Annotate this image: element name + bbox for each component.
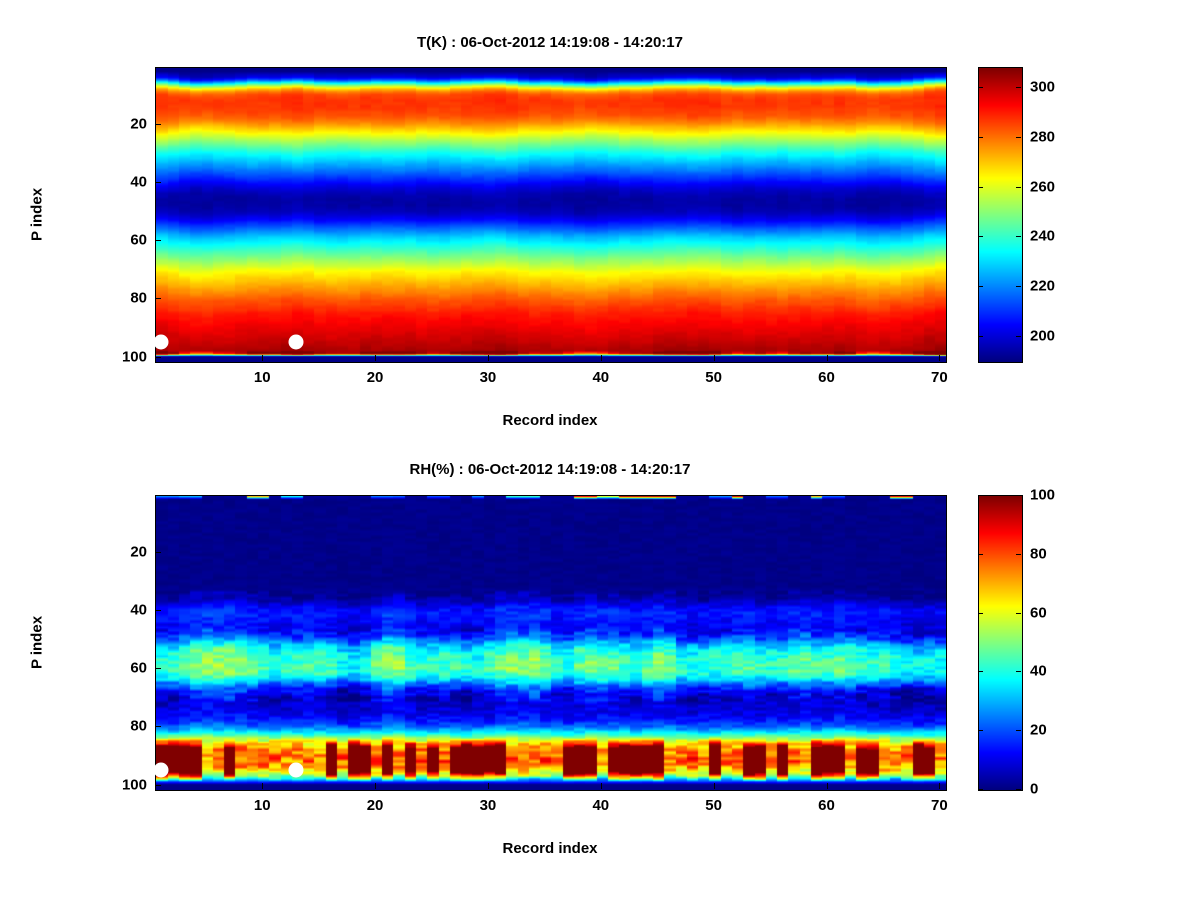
temperature-colorbar-tick-mark: [1016, 286, 1021, 287]
humidity-colorbar-tick-mark: [1016, 495, 1021, 496]
temperature-colorbar-tick-label: 260: [1030, 178, 1055, 195]
temperature-selection-marker[interactable]: [289, 335, 304, 350]
temperature-y-axis-label: P index: [29, 155, 46, 275]
temperature-colorbar-tick-mark: [978, 187, 983, 188]
temperature-heatmap-image: [156, 68, 946, 362]
humidity-heatmap-axes[interactable]: [155, 495, 947, 791]
temperature-x-axis-label: Record index: [155, 412, 945, 429]
temperature-x-tick-mark: [939, 355, 940, 361]
panel-relative-humidity: RH(%) : 06-Oct-2012 14:19:08 - 14:20:17 …: [0, 450, 1200, 900]
humidity-y-tick-label: 100: [89, 776, 147, 793]
humidity-y-tick-mark: [155, 726, 161, 727]
humidity-colorbar-tick-label: 20: [1030, 722, 1047, 739]
temperature-x-tick-label: 20: [367, 369, 384, 386]
humidity-x-axis-label: Record index: [155, 840, 945, 857]
temperature-x-tick-mark: [375, 355, 376, 361]
humidity-selection-marker[interactable]: [153, 763, 168, 778]
humidity-colorbar-tick-mark: [1016, 554, 1021, 555]
temperature-colorbar-tick-mark: [978, 286, 983, 287]
temperature-plot-title: T(K) : 06-Oct-2012 14:19:08 - 14:20:17: [155, 34, 945, 51]
humidity-colorbar-tick-label: 40: [1030, 663, 1047, 680]
humidity-colorbar-tick-mark: [1016, 730, 1021, 731]
humidity-x-tick-mark: [827, 783, 828, 789]
temperature-colorbar-tick-mark: [978, 137, 983, 138]
humidity-x-tick-label: 30: [480, 797, 497, 814]
humidity-colorbar-tick-label: 80: [1030, 545, 1047, 562]
temperature-y-tick-mark: [155, 298, 161, 299]
temperature-colorbar-tick-label: 300: [1030, 78, 1055, 95]
panel-temperature: T(K) : 06-Oct-2012 14:19:08 - 14:20:17 P…: [0, 0, 1200, 450]
temperature-colorbar-tick-mark: [978, 87, 983, 88]
humidity-x-tick-mark: [939, 783, 940, 789]
humidity-colorbar-tick-mark: [978, 730, 983, 731]
temperature-y-tick-label: 100: [89, 348, 147, 365]
temperature-colorbar-tick-mark: [1016, 187, 1021, 188]
temperature-colorbar-gradient: [979, 68, 1022, 362]
temperature-x-tick-label: 60: [818, 369, 835, 386]
humidity-y-tick-mark: [155, 785, 161, 786]
temperature-x-tick-mark: [262, 355, 263, 361]
humidity-colorbar[interactable]: [978, 495, 1023, 791]
humidity-x-tick-label: 60: [818, 797, 835, 814]
humidity-x-tick-label: 50: [705, 797, 722, 814]
humidity-plot-title: RH(%) : 06-Oct-2012 14:19:08 - 14:20:17: [155, 461, 945, 478]
temperature-heatmap-axes[interactable]: [155, 67, 947, 363]
temperature-y-tick-label: 60: [89, 232, 147, 249]
humidity-y-axis-label: P index: [29, 583, 46, 703]
temperature-x-tick-label: 70: [931, 369, 948, 386]
humidity-colorbar-tick-mark: [1016, 613, 1021, 614]
temperature-y-tick-mark: [155, 240, 161, 241]
humidity-colorbar-tick-mark: [1016, 789, 1021, 790]
temperature-colorbar-tick-mark: [1016, 87, 1021, 88]
temperature-y-tick-label: 40: [89, 173, 147, 190]
humidity-y-tick-label: 80: [89, 718, 147, 735]
humidity-x-tick-label: 20: [367, 797, 384, 814]
humidity-colorbar-tick-label: 60: [1030, 604, 1047, 621]
temperature-x-tick-label: 40: [592, 369, 609, 386]
humidity-colorbar-tick-mark: [978, 554, 983, 555]
temperature-x-tick-label: 30: [480, 369, 497, 386]
temperature-colorbar-tick-mark: [1016, 336, 1021, 337]
temperature-colorbar-tick-mark: [978, 236, 983, 237]
humidity-y-tick-label: 20: [89, 543, 147, 560]
temperature-colorbar-tick-label: 240: [1030, 228, 1055, 245]
humidity-x-tick-mark: [601, 783, 602, 789]
temperature-colorbar-tick-mark: [1016, 137, 1021, 138]
temperature-y-tick-label: 80: [89, 290, 147, 307]
humidity-colorbar-tick-label: 100: [1030, 487, 1055, 504]
humidity-x-tick-label: 10: [254, 797, 271, 814]
humidity-selection-marker[interactable]: [289, 763, 304, 778]
temperature-x-tick-label: 50: [705, 369, 722, 386]
humidity-colorbar-tick-mark: [978, 789, 983, 790]
temperature-x-tick-label: 10: [254, 369, 271, 386]
humidity-y-tick-label: 40: [89, 601, 147, 618]
temperature-y-tick-mark: [155, 124, 161, 125]
humidity-x-tick-label: 40: [592, 797, 609, 814]
humidity-y-tick-label: 60: [89, 660, 147, 677]
temperature-y-tick-label: 20: [89, 115, 147, 132]
temperature-x-tick-mark: [714, 355, 715, 361]
humidity-x-tick-mark: [375, 783, 376, 789]
temperature-y-tick-mark: [155, 182, 161, 183]
humidity-colorbar-tick-mark: [978, 671, 983, 672]
matlab-figure-window: T(K) : 06-Oct-2012 14:19:08 - 14:20:17 P…: [0, 0, 1200, 900]
humidity-x-tick-label: 70: [931, 797, 948, 814]
humidity-x-tick-mark: [488, 783, 489, 789]
temperature-x-tick-mark: [488, 355, 489, 361]
temperature-colorbar-tick-label: 220: [1030, 278, 1055, 295]
temperature-colorbar[interactable]: [978, 67, 1023, 363]
temperature-x-tick-mark: [601, 355, 602, 361]
humidity-colorbar-tick-mark: [978, 613, 983, 614]
humidity-colorbar-tick-label: 0: [1030, 781, 1038, 798]
temperature-colorbar-tick-label: 280: [1030, 128, 1055, 145]
humidity-colorbar-tick-mark: [1016, 671, 1021, 672]
temperature-selection-marker[interactable]: [153, 335, 168, 350]
temperature-x-tick-mark: [827, 355, 828, 361]
temperature-colorbar-tick-mark: [1016, 236, 1021, 237]
humidity-heatmap-image: [156, 496, 946, 790]
humidity-colorbar-gradient: [979, 496, 1022, 790]
humidity-colorbar-tick-mark: [978, 495, 983, 496]
temperature-y-tick-mark: [155, 357, 161, 358]
humidity-y-tick-mark: [155, 610, 161, 611]
humidity-y-tick-mark: [155, 668, 161, 669]
humidity-x-tick-mark: [714, 783, 715, 789]
temperature-colorbar-tick-label: 200: [1030, 328, 1055, 345]
humidity-x-tick-mark: [262, 783, 263, 789]
humidity-y-tick-mark: [155, 552, 161, 553]
temperature-colorbar-tick-mark: [978, 336, 983, 337]
